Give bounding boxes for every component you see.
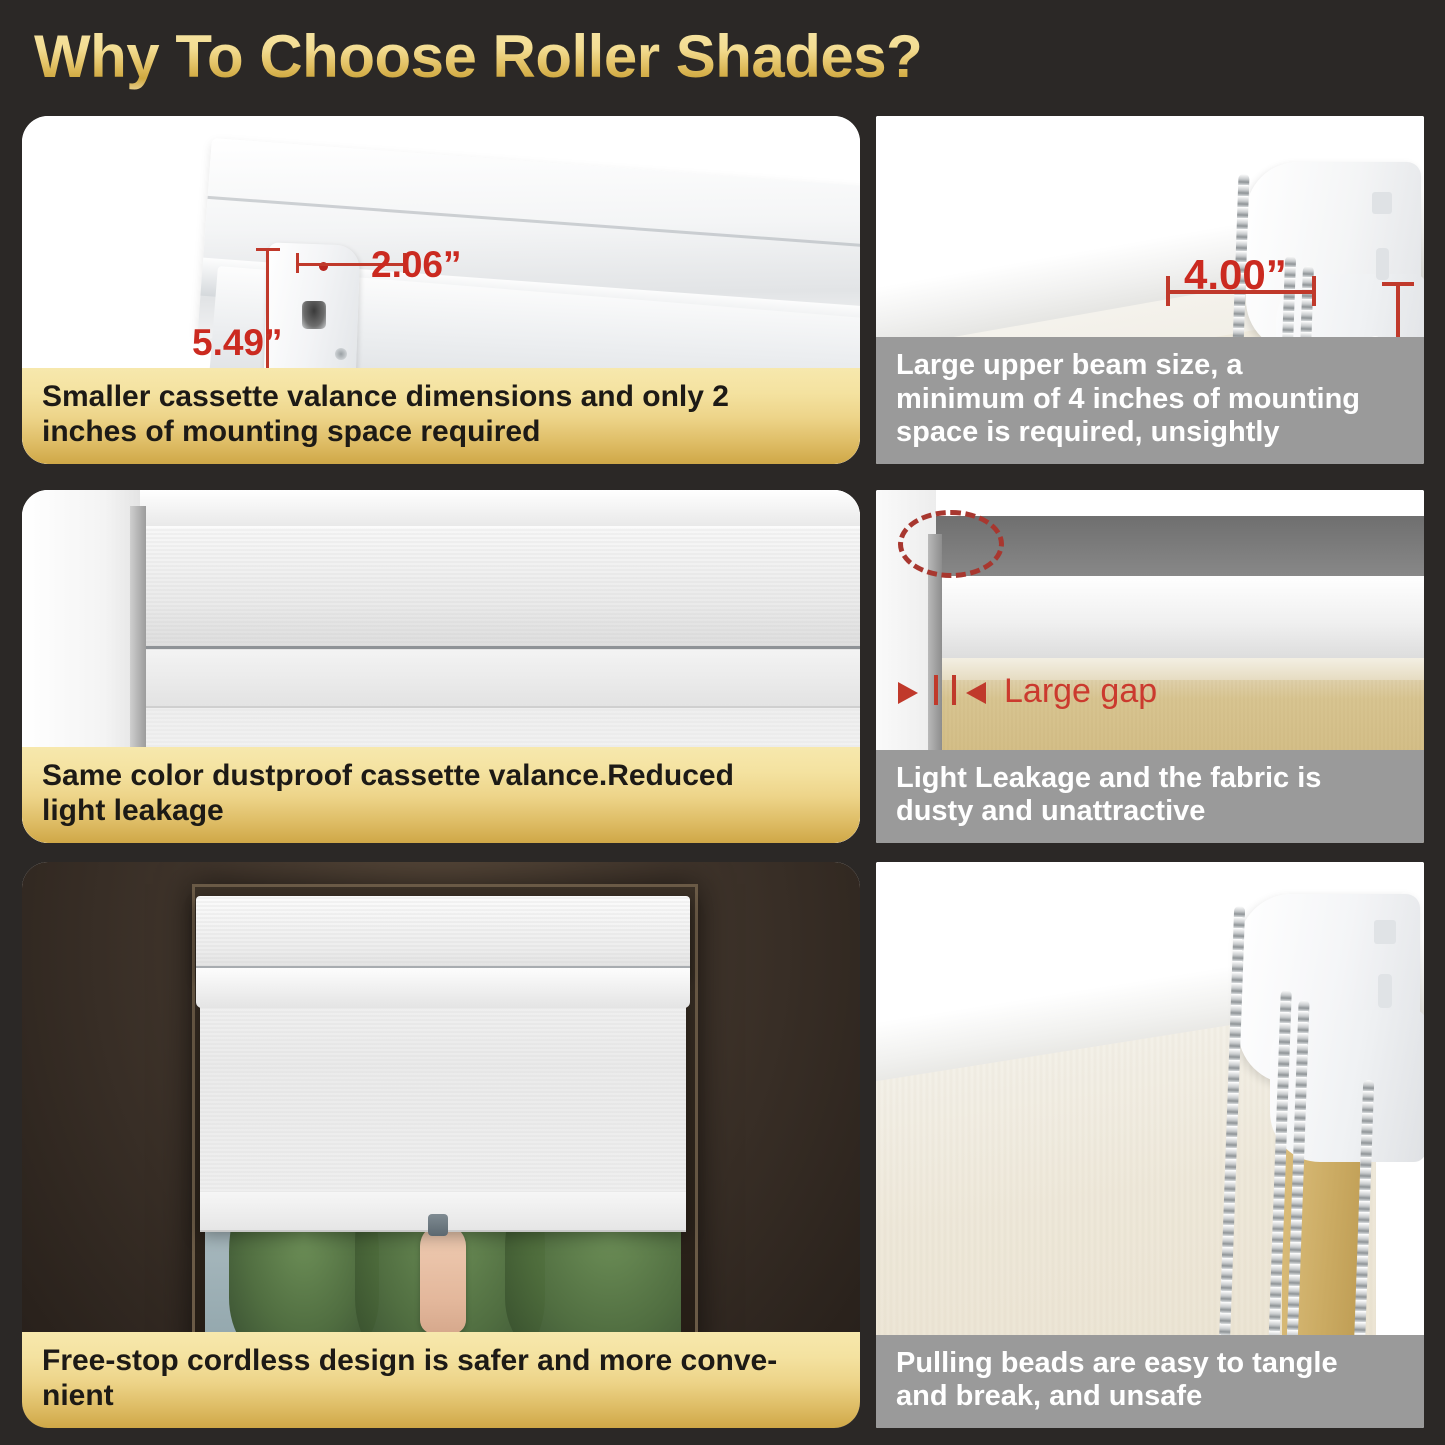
height-tick-top xyxy=(1382,282,1414,286)
bracket-slot-a xyxy=(1372,192,1392,214)
caption-line-1: Smaller cassette valance dimensions and … xyxy=(42,380,729,413)
panel-caption: Large upper beam size, a minimum of 4 in… xyxy=(876,337,1424,464)
valance-screw xyxy=(335,348,347,360)
panel-cassette-dimensions: 2.06” 5.49” Smaller cassette valance dim… xyxy=(22,116,860,464)
height-dimension-label: 5.49” xyxy=(192,322,283,364)
width-tick-left xyxy=(1166,276,1170,306)
panel-large-gap: Large gap Light Leakage and the fabric i… xyxy=(876,490,1424,843)
panel-caption: Same color dustproof cassette valance.Re… xyxy=(22,747,860,843)
panel-pulling-beads: Pulling beads are easy to tangle and bre… xyxy=(876,862,1424,1428)
width-tick-left xyxy=(296,253,299,273)
caption-line-1: Pulling beads are easy to tangle xyxy=(896,1347,1338,1379)
width-dimension-label: 4.00” xyxy=(1184,251,1287,299)
height-tick-top xyxy=(256,248,280,251)
caption-line-2: dusty and unattractive xyxy=(896,795,1406,829)
valance-lower-rail xyxy=(142,650,860,708)
panel-caption: Free-stop cordless design is safer and m… xyxy=(22,1332,860,1428)
caption-line-1: Light Leakage and the fabric is xyxy=(896,762,1321,794)
panel-caption: Pulling beads are easy to tangle and bre… xyxy=(876,1335,1424,1428)
caption-line-1: Free-stop cordless design is safer and m… xyxy=(42,1344,777,1377)
caption-line-1: Same color dustproof cassette valance.Re… xyxy=(42,759,734,792)
gap-marker-right xyxy=(952,675,956,705)
upper-beam xyxy=(942,576,1424,660)
caption-line-2: nient xyxy=(42,1379,842,1414)
gap-marker-left xyxy=(934,675,938,705)
caption-line-2: and break, and unsafe xyxy=(896,1380,1406,1414)
panel-smaller-gap: smaller gap Same color dustproof cassett… xyxy=(22,490,860,843)
bracket-slot-b xyxy=(1376,248,1389,280)
caption-line-1: Large upper beam size, a xyxy=(896,349,1243,381)
gap-arrow-left-icon xyxy=(966,682,986,704)
caption-line-2: inches of mounting space required xyxy=(42,415,842,450)
gap-label: Large gap xyxy=(1004,672,1157,711)
gap-arrow-right-icon xyxy=(898,682,918,704)
shade-grip-handle xyxy=(428,1214,448,1236)
valance-slot xyxy=(302,301,326,329)
width-tick-right xyxy=(1312,276,1316,306)
cassette-valance xyxy=(142,528,860,649)
bracket-slot-a xyxy=(1374,920,1396,944)
panel-cordless-design: Free-stop cordless design is safer and m… xyxy=(22,862,860,1428)
valance-lower-rail xyxy=(196,966,690,1008)
panel-large-beam: 4.00” 4.00” Large upper beam size, a min… xyxy=(876,116,1424,464)
hand xyxy=(420,1224,466,1334)
bracket-slot-b xyxy=(1378,974,1392,1008)
header-bar: Why To Choose Roller Shades? xyxy=(0,0,1445,110)
caption-line-2: light leakage xyxy=(42,794,842,829)
highlight-ellipse-icon xyxy=(898,510,1004,578)
panel-caption: Smaller cassette valance dimensions and … xyxy=(22,368,860,464)
page-title: Why To Choose Roller Shades? xyxy=(34,22,922,91)
caption-line-2: minimum of 4 inches of mounting xyxy=(896,383,1406,417)
panel-caption: Light Leakage and the fabric is dusty an… xyxy=(876,750,1424,843)
caption-line-3: space is required, unsightly xyxy=(896,416,1406,450)
window-frame-top xyxy=(122,490,860,526)
width-dimension-label: 2.06” xyxy=(371,244,462,286)
